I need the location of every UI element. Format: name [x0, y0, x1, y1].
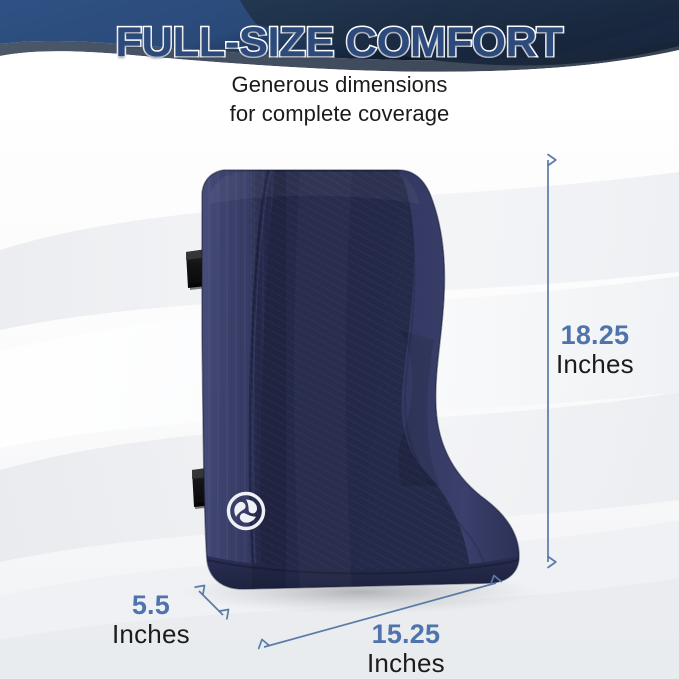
subtitle: Generous dimensions for complete coverag…	[0, 70, 679, 128]
height-dimension-label: 18.25 Inches	[556, 322, 634, 377]
width-unit: Inches	[367, 650, 445, 676]
depth-unit: Inches	[112, 621, 190, 647]
height-value: 18.25	[556, 322, 634, 349]
height-unit: Inches	[556, 351, 634, 377]
width-value: 15.25	[367, 621, 445, 648]
depth-value: 5.5	[112, 592, 190, 619]
infographic-canvas: FULL-SIZE COMFORT Generous dimensions fo…	[0, 0, 679, 679]
subtitle-line-2: for complete coverage	[0, 99, 679, 128]
depth-dimension-label: 5.5 Inches	[112, 592, 190, 647]
width-dimension-label: 15.25 Inches	[367, 621, 445, 676]
subtitle-line-1: Generous dimensions	[0, 70, 679, 99]
